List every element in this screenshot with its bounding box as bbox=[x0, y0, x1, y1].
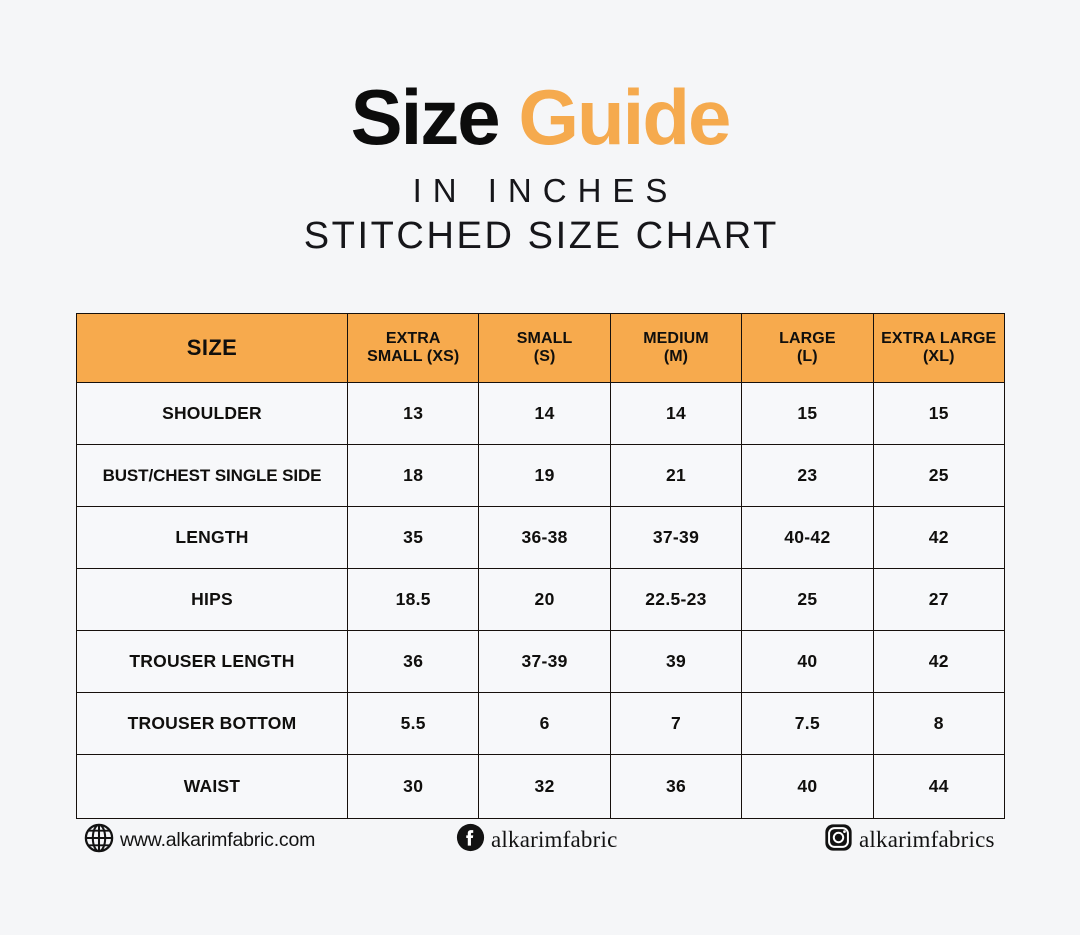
title-word-size: Size bbox=[351, 73, 499, 161]
cell-length-l: 40-42 bbox=[742, 507, 873, 569]
cell-trouser-length-s: 37-39 bbox=[479, 631, 610, 693]
header-m-line2: (M) bbox=[615, 348, 737, 366]
cell-length-m: 37-39 bbox=[610, 507, 741, 569]
cell-trouser-bottom-xl: 8 bbox=[873, 693, 1004, 755]
table-body: SHOULDER 13 14 14 15 15 BUST/CHEST SINGL… bbox=[77, 383, 1005, 819]
facebook-icon bbox=[456, 823, 485, 857]
row-label-length: LENGTH bbox=[77, 507, 348, 569]
header-xs-line1: EXTRA bbox=[352, 330, 474, 348]
header-cell-m: MEDIUM (M) bbox=[610, 314, 741, 383]
instagram-label: alkarimfabrics bbox=[859, 827, 995, 853]
cell-trouser-bottom-m: 7 bbox=[610, 693, 741, 755]
cell-waist-l: 40 bbox=[742, 755, 873, 819]
instagram-icon bbox=[824, 823, 853, 857]
header-m-line1: MEDIUM bbox=[615, 330, 737, 348]
header-l-line1: LARGE bbox=[746, 330, 868, 348]
cell-waist-s: 32 bbox=[479, 755, 610, 819]
cell-hips-l: 25 bbox=[742, 569, 873, 631]
row-label-trouser-bottom: TROUSER BOTTOM bbox=[77, 693, 348, 755]
facebook-label: alkarimfabric bbox=[491, 827, 617, 853]
cell-hips-xl: 27 bbox=[873, 569, 1004, 631]
cell-hips-s: 20 bbox=[479, 569, 610, 631]
cell-length-xs: 35 bbox=[348, 507, 479, 569]
title-block: Size Guide IN INCHES STITCHED SIZE CHART bbox=[0, 78, 1080, 260]
header-s-line1: SMALL bbox=[483, 330, 605, 348]
cell-hips-m: 22.5-23 bbox=[610, 569, 741, 631]
row-label-waist: WAIST bbox=[77, 755, 348, 819]
page-title: Size Guide bbox=[0, 78, 1080, 158]
row-label-bust-chest: BUST/CHEST SINGLE SIDE bbox=[77, 445, 348, 507]
table-row: HIPS 18.5 20 22.5-23 25 27 bbox=[77, 569, 1005, 631]
cell-trouser-length-l: 40 bbox=[742, 631, 873, 693]
table-row: LENGTH 35 36-38 37-39 40-42 42 bbox=[77, 507, 1005, 569]
header-xl-line1: EXTRA LARGE bbox=[878, 330, 1000, 348]
header-xs-line2: SMALL (XS) bbox=[352, 348, 474, 366]
cell-waist-m: 36 bbox=[610, 755, 741, 819]
footer-facebook[interactable]: alkarimfabric bbox=[456, 818, 617, 862]
cell-trouser-length-xs: 36 bbox=[348, 631, 479, 693]
footer-instagram[interactable]: alkarimfabrics bbox=[824, 818, 995, 862]
subtitle-chart-type: STITCHED SIZE CHART bbox=[0, 213, 1080, 261]
header-cell-l: LARGE (L) bbox=[742, 314, 873, 383]
footer: www.alkarimfabric.com alkarimfabric bbox=[76, 818, 1004, 866]
cell-length-xl: 42 bbox=[873, 507, 1004, 569]
table-row: TROUSER LENGTH 36 37-39 39 40 42 bbox=[77, 631, 1005, 693]
cell-bust-xl: 25 bbox=[873, 445, 1004, 507]
cell-waist-xl: 44 bbox=[873, 755, 1004, 819]
header-cell-xs: EXTRA SMALL (XS) bbox=[348, 314, 479, 383]
header-row: SIZE EXTRA SMALL (XS) SMALL (S) MEDIUM (… bbox=[77, 314, 1005, 383]
size-chart-table: SIZE EXTRA SMALL (XS) SMALL (S) MEDIUM (… bbox=[76, 313, 1005, 819]
header-s-line2: (S) bbox=[483, 348, 605, 366]
row-label-shoulder: SHOULDER bbox=[77, 383, 348, 445]
row-label-hips: HIPS bbox=[77, 569, 348, 631]
cell-shoulder-s: 14 bbox=[479, 383, 610, 445]
table-header: SIZE EXTRA SMALL (XS) SMALL (S) MEDIUM (… bbox=[77, 314, 1005, 383]
cell-shoulder-xs: 13 bbox=[348, 383, 479, 445]
table-row: WAIST 30 32 36 40 44 bbox=[77, 755, 1005, 819]
size-chart-container: SIZE EXTRA SMALL (XS) SMALL (S) MEDIUM (… bbox=[76, 313, 1004, 819]
globe-icon bbox=[84, 823, 114, 858]
cell-shoulder-xl: 15 bbox=[873, 383, 1004, 445]
title-word-guide: Guide bbox=[518, 73, 729, 161]
size-guide-page: Size Guide IN INCHES STITCHED SIZE CHART… bbox=[0, 0, 1080, 935]
cell-trouser-length-xl: 42 bbox=[873, 631, 1004, 693]
cell-trouser-bottom-l: 7.5 bbox=[742, 693, 873, 755]
cell-bust-l: 23 bbox=[742, 445, 873, 507]
cell-length-s: 36-38 bbox=[479, 507, 610, 569]
row-label-trouser-length: TROUSER LENGTH bbox=[77, 631, 348, 693]
header-cell-s: SMALL (S) bbox=[479, 314, 610, 383]
cell-bust-s: 19 bbox=[479, 445, 610, 507]
header-cell-xl: EXTRA LARGE (XL) bbox=[873, 314, 1004, 383]
header-size-line1: SIZE bbox=[81, 336, 343, 361]
table-row: TROUSER BOTTOM 5.5 6 7 7.5 8 bbox=[77, 693, 1005, 755]
cell-waist-xs: 30 bbox=[348, 755, 479, 819]
cell-hips-xs: 18.5 bbox=[348, 569, 479, 631]
table-row: SHOULDER 13 14 14 15 15 bbox=[77, 383, 1005, 445]
footer-website[interactable]: www.alkarimfabric.com bbox=[84, 818, 315, 862]
website-label: www.alkarimfabric.com bbox=[120, 829, 315, 852]
subtitle-units: IN INCHES bbox=[0, 170, 1080, 211]
cell-shoulder-l: 15 bbox=[742, 383, 873, 445]
cell-trouser-length-m: 39 bbox=[610, 631, 741, 693]
header-xl-line2: (XL) bbox=[878, 348, 1000, 366]
header-l-line2: (L) bbox=[746, 348, 868, 366]
header-cell-size: SIZE bbox=[77, 314, 348, 383]
cell-bust-xs: 18 bbox=[348, 445, 479, 507]
cell-trouser-bottom-xs: 5.5 bbox=[348, 693, 479, 755]
cell-bust-m: 21 bbox=[610, 445, 741, 507]
cell-shoulder-m: 14 bbox=[610, 383, 741, 445]
cell-trouser-bottom-s: 6 bbox=[479, 693, 610, 755]
table-row: BUST/CHEST SINGLE SIDE 18 19 21 23 25 bbox=[77, 445, 1005, 507]
